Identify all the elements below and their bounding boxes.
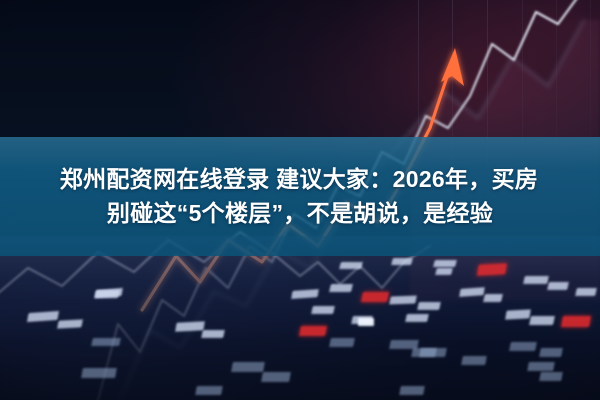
banner-image: 郑州配资网在线登录 建议大家：2026年，买房 别碰这“5个楼层”，不是胡说，是… bbox=[0, 0, 600, 400]
headline-line-1: 郑州配资网在线登录 建议大家：2026年，买房 bbox=[60, 165, 540, 194]
headline-line-2: 别碰这“5个楼层”，不是胡说，是经验 bbox=[107, 199, 493, 228]
headline-text: 郑州配资网在线登录 建议大家：2026年，买房 别碰这“5个楼层”，不是胡说，是… bbox=[0, 137, 600, 256]
